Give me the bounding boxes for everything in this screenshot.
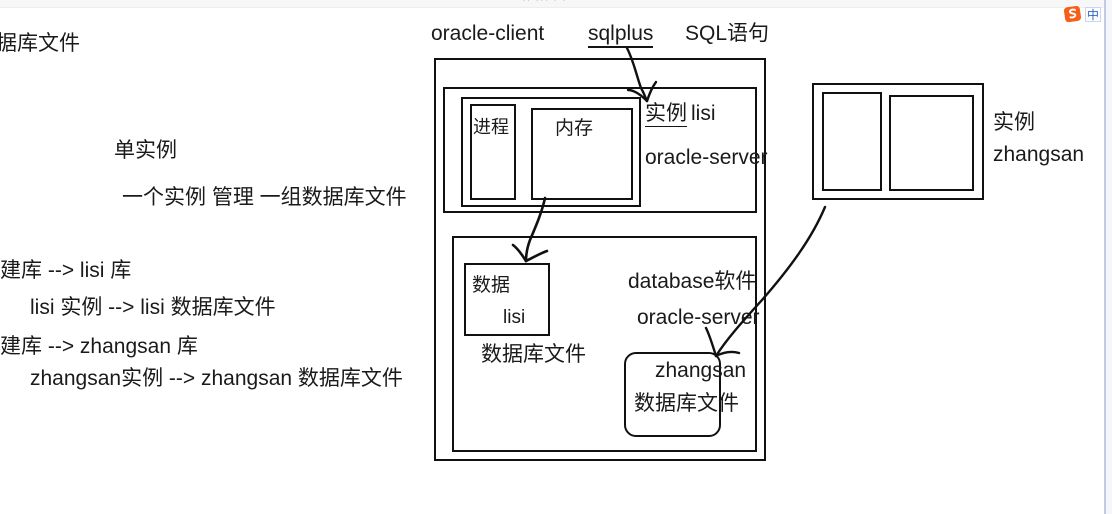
zhangsan-instance-memory-box — [889, 95, 974, 191]
left-note-line-3: 建库 --> zhangsan 库 — [0, 335, 198, 359]
right-instance-label: 实例 — [993, 111, 1035, 135]
left-note-title-clipped: 据库文件 — [0, 32, 80, 56]
memory-box-label: 内存 — [555, 118, 593, 140]
process-box-label: 进程 — [473, 117, 509, 138]
data-box-name-lisi: lisi — [503, 307, 525, 329]
instance-name-lisi: lisi — [691, 102, 716, 126]
zhangsan-datafile-name: zhangsan — [655, 359, 746, 383]
instance-oracle-server-label: oracle-server — [645, 146, 768, 170]
diagram-canvas: ·· ··· · · 中 据库文件 单实例 一个实例 管理 一组数据库文件 建库… — [0, 0, 1112, 514]
right-instance-name: zhangsan — [993, 143, 1084, 167]
data-file-caption: 数据库文件 — [481, 343, 586, 367]
right-divider-rule — [1104, 0, 1106, 514]
label-sqlplus: sqlplus — [588, 22, 653, 48]
label-oracle-client: oracle-client — [431, 22, 544, 46]
label-sql-statement: SQL语句 — [685, 22, 769, 46]
zhangsan-datafile-caption: 数据库文件 — [634, 392, 739, 416]
sogou-ime-badge[interactable]: 中 — [1063, 4, 1103, 24]
left-note-single-instance-desc: 一个实例 管理 一组数据库文件 — [122, 186, 407, 210]
zhangsan-instance-process-box — [822, 92, 882, 191]
ime-mode-label[interactable]: 中 — [1085, 7, 1101, 22]
left-note-single-instance: 单实例 — [114, 139, 177, 163]
right-pane-background — [1106, 0, 1112, 514]
left-note-line-1: 建库 --> lisi 库 — [0, 259, 131, 283]
data-box-label: 数据 — [472, 275, 510, 297]
top-clipped-text: ·· ··· · · — [522, 0, 567, 4]
database-oracle-server-label: oracle-server — [637, 306, 760, 330]
left-note-line-2: lisi 实例 --> lisi 数据库文件 — [30, 296, 276, 320]
sogou-logo-icon[interactable] — [1063, 5, 1083, 23]
database-software-label: database软件 — [628, 270, 756, 294]
instance-label: 实例 — [645, 102, 687, 127]
left-note-line-4: zhangsan实例 --> zhangsan 数据库文件 — [30, 367, 403, 391]
